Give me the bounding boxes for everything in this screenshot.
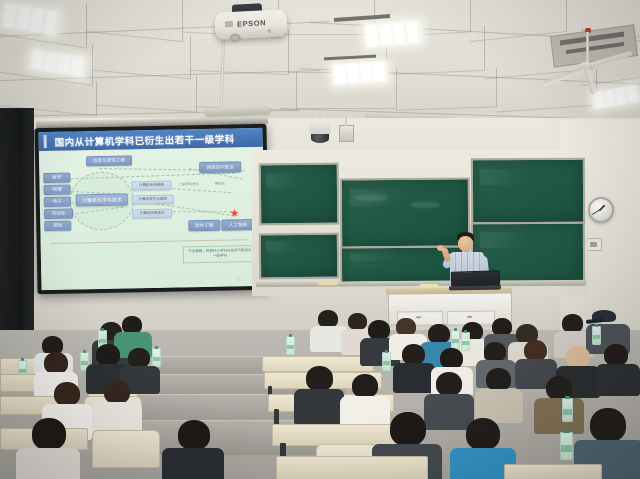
desk-row: [504, 464, 602, 479]
audience-body: [534, 398, 584, 434]
seat-back: [92, 430, 160, 468]
highlight-star-icon: ★: [230, 209, 239, 219]
water-bottle: [461, 332, 470, 351]
wall-clock: [588, 197, 614, 223]
lecture-hall-photo: EPSON 国内从计算机学科已: [0, 0, 640, 479]
water-bottle: [152, 348, 161, 367]
audience-head: [104, 380, 130, 404]
water-bottle: [562, 398, 573, 422]
blackboard-panel-right: [471, 158, 585, 225]
surveillance-camera-dome: [311, 134, 329, 143]
diagram-node-left: 数学: [43, 173, 70, 184]
audience-body: [294, 389, 344, 425]
audience-head: [484, 342, 506, 362]
diagram-hub-node: 计算机科学与技术: [76, 193, 128, 206]
ceiling-light-panel: [363, 20, 423, 49]
audience-head: [178, 420, 210, 450]
diagram-node-left: 其他: [44, 221, 71, 232]
audience-head: [348, 313, 367, 330]
audience-head: [352, 374, 378, 398]
slide-footnote: 不会撤销，将被并入学科与技术可能成为一级学科: [183, 245, 257, 263]
audience-head: [96, 344, 120, 366]
audience-head: [524, 340, 547, 361]
chalk-stick: [420, 284, 438, 287]
diagram-subnode: 计算机系统结构: [131, 181, 171, 191]
presenter-hand-raised: [437, 245, 444, 251]
presentation-slide: 国内从计算机学科已衍生出若干一级学科 数学 物理 电子: [39, 128, 266, 290]
blackboard-panel-center: [340, 178, 470, 249]
projector-brand-label: EPSON: [237, 18, 267, 29]
desk-row: [276, 456, 428, 479]
audience-head: [54, 382, 80, 406]
diagram-subnode: 计算机软件与理论: [132, 195, 174, 205]
diagram-node-right: 网络空间安全: [199, 161, 241, 173]
water-bottle: [286, 336, 295, 355]
audience-head: [128, 348, 150, 368]
audience-head: [402, 344, 425, 365]
title-accent-mark: [44, 135, 47, 149]
water-bottle: [592, 326, 601, 345]
water-bottle: [382, 352, 391, 371]
diagram-node-top: 信息与通信工程: [86, 155, 132, 166]
audience-body: [16, 448, 80, 479]
diagram-node-right: 软件工程: [188, 220, 220, 232]
projector: EPSON: [214, 9, 287, 40]
blackboard-panel-left: [259, 163, 340, 226]
diagram-node-right: 人工智能: [221, 219, 255, 231]
slide-title-text: 国内从计算机学科已衍生出若干一级学科: [39, 131, 235, 149]
audience-head: [604, 344, 628, 366]
diagram-subnode-tail: 学科点: [207, 179, 231, 186]
audience-head: [486, 368, 511, 391]
audience-head: [466, 418, 500, 450]
wall-speaker: [339, 125, 354, 142]
projection-screen-frame: 国内从计算机学科已衍生出若干一级学科 数学 物理 电子: [34, 124, 269, 294]
audience-body: [162, 448, 224, 479]
audience-head: [440, 348, 463, 369]
audience-head: [428, 324, 450, 344]
blackboard-panel-left-lower: [259, 233, 339, 280]
audience-head: [566, 346, 590, 368]
ceiling-light-panel: [591, 84, 640, 110]
audience-head: [306, 366, 333, 391]
audience-head: [32, 418, 66, 450]
diagram-node-left: 物理: [44, 185, 71, 196]
water-bottle: [560, 432, 573, 460]
slide-body: 数学 物理 电子 自动化 其他 计算机科学与技术 信息与通信工程 计算机系统结构…: [39, 147, 266, 290]
diagram-node-left: 自动化: [44, 209, 73, 220]
water-bottle: [451, 330, 460, 349]
audience-head: [436, 372, 462, 396]
speaker-bracket: [345, 116, 347, 126]
diagram-subnode: 计算机应用技术: [132, 209, 172, 219]
audience-head: [44, 352, 68, 374]
chalk-stick: [318, 282, 338, 285]
audience-head: [390, 412, 426, 446]
audience-body: [393, 363, 435, 393]
ceiling-fan-pole: [586, 32, 589, 66]
ceiling-light-panel: [331, 60, 389, 86]
diagram-node-left: 电子: [44, 197, 71, 208]
audience-head: [368, 320, 390, 340]
slide-page-number: 12: [237, 277, 240, 281]
audience-body: [424, 394, 474, 430]
audience-head: [590, 408, 626, 442]
diagram-subnode-tail: 二级学科方向: [173, 180, 203, 188]
audience-body: [596, 364, 640, 396]
